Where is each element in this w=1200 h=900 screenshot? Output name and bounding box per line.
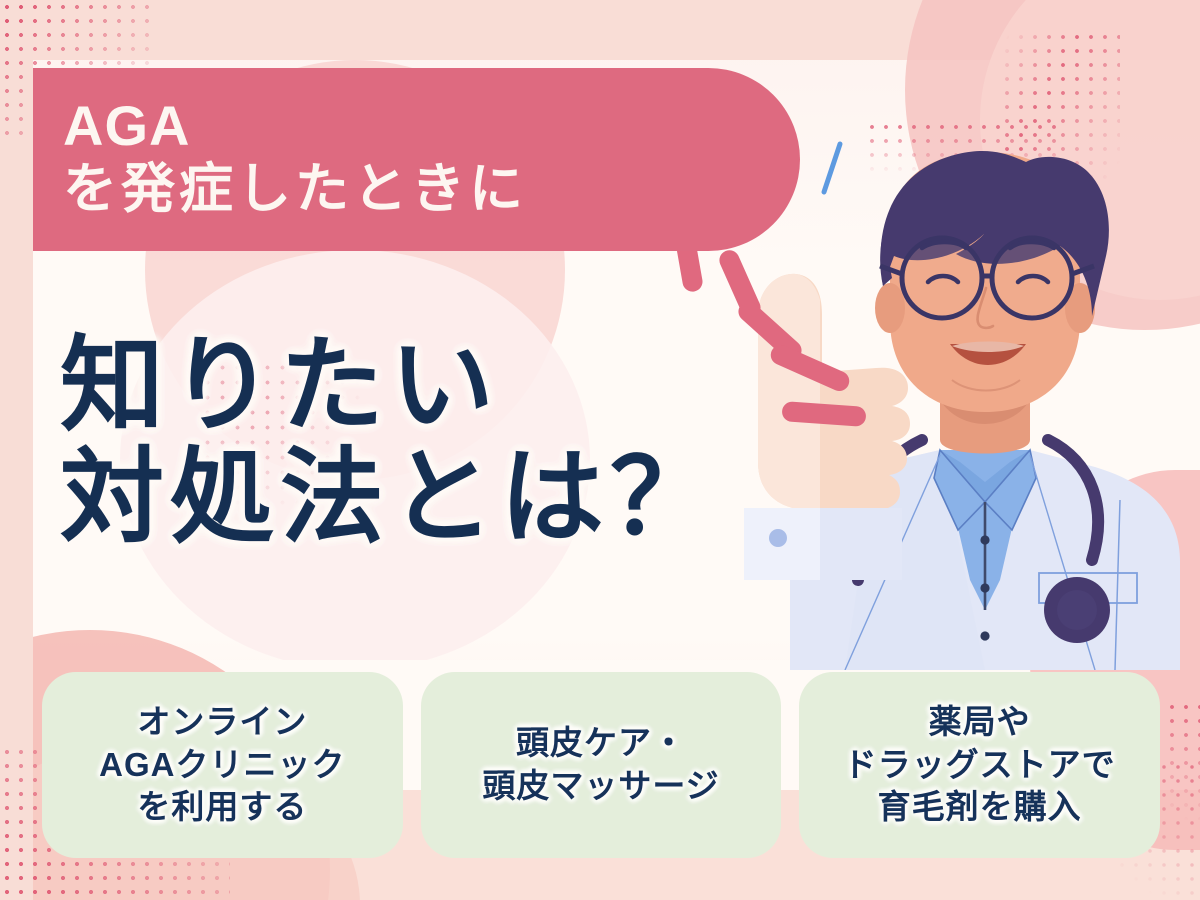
headline-line-2: 対処法とは？ — [60, 442, 880, 554]
option-card-online-clinic[interactable]: オンライン AGAクリニック を利用する — [42, 672, 403, 858]
banner-line-2: を発症したときに — [63, 158, 800, 220]
card-line: を利用する — [137, 786, 307, 829]
option-card-pharmacy[interactable]: 薬局や ドラッグストアで 育毛剤を購入 — [799, 672, 1160, 858]
card-line: 頭皮マッサージ — [482, 765, 719, 808]
card-line: 頭皮ケア・ — [516, 722, 686, 765]
card-line: AGAクリニック — [99, 744, 345, 787]
banner-line-1: AGA — [63, 98, 800, 154]
card-line: 薬局や — [929, 701, 1031, 744]
card-line: オンライン — [137, 701, 307, 744]
page-title: 知りたい 対処法とは？ — [60, 330, 880, 555]
card-line: ドラッグストアで — [844, 744, 1116, 787]
option-card-list: オンライン AGAクリニック を利用する 頭皮ケア・ 頭皮マッサージ 薬局や ド… — [42, 672, 1160, 858]
banner-graphic: AGA を発症したときに 知りたい 対処法とは？ オンライン AGAクリニック … — [0, 0, 1200, 900]
eyebrow-banner: AGA を発症したときに — [33, 68, 800, 251]
headline-line-1: 知りたい — [60, 330, 880, 442]
card-line: 育毛剤を購入 — [878, 786, 1082, 829]
option-card-scalp-care[interactable]: 頭皮ケア・ 頭皮マッサージ — [421, 672, 782, 858]
